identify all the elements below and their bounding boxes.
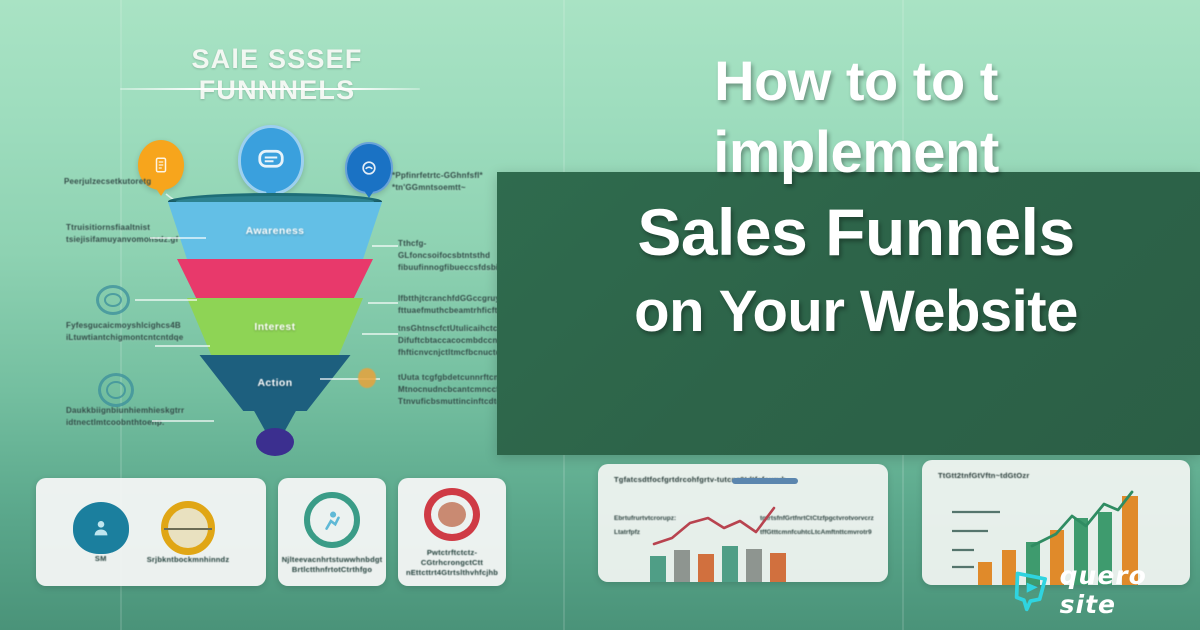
annotation-right-1: *Ppfinrfetrtc-GGhnfsfl* *tn'GGmntsoemtt~ [392,170,512,194]
brand-word-2: site [1060,590,1116,619]
cart-icon [359,158,379,178]
chart-left-trend-line [654,508,774,544]
chat-bubble-icon [256,145,286,175]
annotation-glyph-left-2 [98,373,134,407]
infographic-title: SAlE SSSEF FUNNNELS [112,44,442,106]
document-icon [152,156,170,174]
chart-panel-left[interactable]: Tgfatcsdtfocfgrtdrcohfgrtv-tutcnz9tdtfcf… [598,464,888,582]
headline-line-3: Sales Funnels [520,190,1192,274]
connector-right-4 [362,333,398,335]
funnel-band-action: Action [200,355,351,411]
chart-right-y-ticks [952,512,1000,567]
gold-ring-icon [161,501,215,555]
quero-site-play-bubble-icon [1012,567,1051,613]
funnel-band-awareness: Awareness [168,202,382,260]
annotation-left-4: Daukkbiignbiunhiemhieskgtrr idtnectlmtco… [66,405,191,429]
funnel-band-label-1: Awareness [246,225,305,237]
user-profile-icon [73,502,129,554]
connector-left-3 [135,299,197,301]
feature-card-1-label: SM [95,554,107,564]
connector-right-2 [372,245,398,247]
annotation-glyph-left-1 [96,285,130,315]
funnel-band-label-4: Action [257,377,292,389]
feature-card-3[interactable]: Njlteevacnhrtstuwwhnbdgt BrtlctthnfrtotC… [278,478,386,586]
feature-card-4-label: Pwtctrftctctz-CGtrhcrongctCtt nEttcttrt4… [406,548,498,578]
connector-left-5 [152,420,214,422]
funnel-output-drop [256,428,294,456]
chart-left-plot [598,464,888,582]
feature-card-3-label: Njlteevacnhrtstuwwhnbdgt BrtlctthnfrtotC… [282,555,383,575]
brand-word-1: quero [1060,561,1147,590]
chart-left-bars [650,546,786,582]
brand-logo-text: querosite [1060,561,1200,619]
funnel-band-2 [177,259,373,299]
annotation-left-2: Ttruisitiornsfiaaltnist tsiejisifamuyanv… [66,222,191,246]
funnel-band-label-3: Interest [254,321,295,333]
headline: How to to t implement Sales Funnels on Y… [520,46,1192,350]
feature-card-4[interactable]: Pwtctrftctctz-CGtrhcrongctCtt nEttcttrt4… [398,478,506,586]
green-person-icon [304,492,360,548]
funnel-band-interest: Interest [187,298,363,356]
headline-line-4: on Your Website [520,274,1192,350]
annotation-left-3: Fyfesgucaicmoyshlcighcs4B iLtuwtiantchig… [66,320,191,344]
annotation-left-1: Peerjulzecsetkutoretg [64,176,194,188]
badge-blue-small [345,142,393,194]
infographic-title-rule [120,88,420,90]
annotation-glyph-orange [358,368,376,388]
badge-blue-large [238,125,304,195]
feature-cards: SM Srjbkntbockmnhinndz Njlteevacnhrtstuw… [36,478,506,586]
feature-card-2-label: Srjbkntbockmnhinndz [147,555,230,565]
connector-left-2 [150,237,206,239]
headline-line-2: implement [520,116,1192,190]
connector-left-4 [155,345,210,347]
feature-card-1[interactable]: SM Srjbkntbockmnhinndz [36,478,266,586]
red-target-icon [424,488,480,541]
connector-right-3 [368,302,398,304]
headline-line-1: How to to t [520,46,1192,116]
brand-logo[interactable]: querosite [1012,561,1200,619]
